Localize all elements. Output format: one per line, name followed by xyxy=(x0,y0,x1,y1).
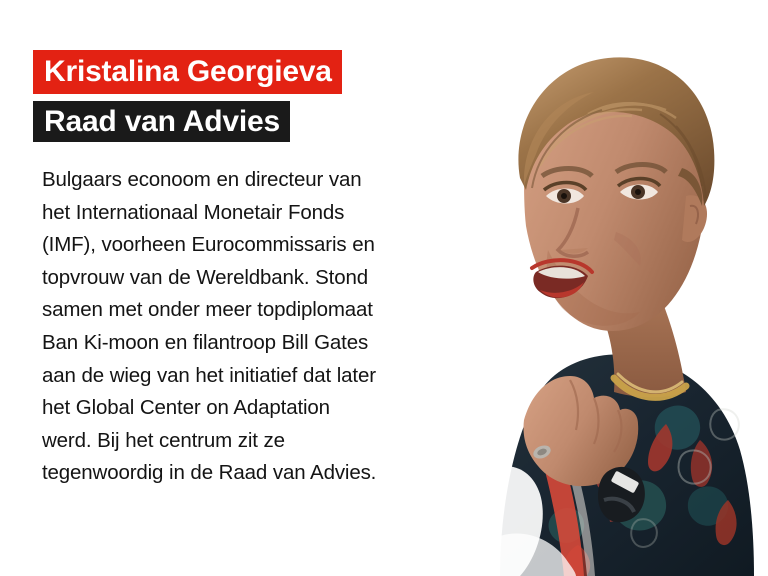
title-stack: Kristalina Georgieva Raad van Advies xyxy=(33,50,393,142)
profile-card: Kristalina Georgieva Raad van Advies Bul… xyxy=(0,0,768,576)
portrait-illustration xyxy=(428,0,768,576)
person-role-banner: Raad van Advies xyxy=(33,101,290,142)
biography-paragraph: Bulgaars econoom en directeur van het In… xyxy=(42,164,384,490)
portrait-photo xyxy=(428,0,768,576)
text-column: Kristalina Georgieva Raad van Advies Bul… xyxy=(33,50,393,490)
person-name-banner: Kristalina Georgieva xyxy=(33,50,342,94)
